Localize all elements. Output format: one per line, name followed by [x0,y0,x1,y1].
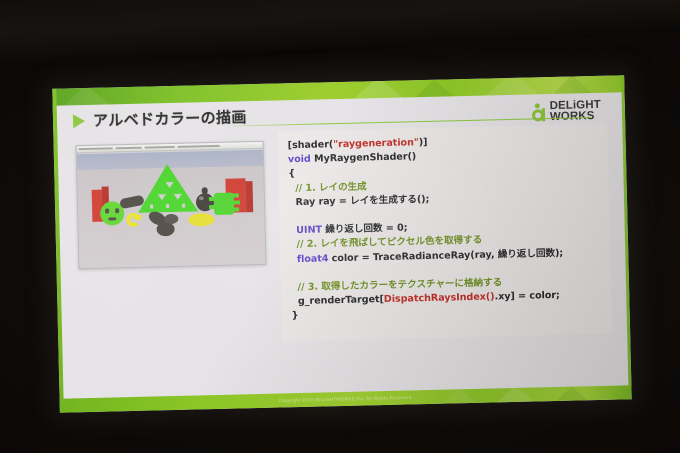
green-spike [232,207,239,211]
sphere-mouth [108,217,116,220]
sphere-eye [105,208,109,213]
code-block: [shader("raygeneration")]void MyRaygenSh… [277,124,612,342]
sphere-stem [202,187,208,194]
header-triangle-icon [62,84,110,105]
tetra-hole [158,194,166,200]
tetra-hole [174,194,182,200]
code-token: .xy] = color; [494,290,560,303]
header-triangle-icon [482,75,543,98]
code-token: // 1. レイの生成 [289,181,367,194]
code-token: )] [419,137,428,148]
code-token: [shader( [288,139,334,151]
preview-scene-objects [77,150,266,268]
code-lines: [shader("raygeneration")]void MyRaygenSh… [288,132,602,324]
code-token: // 2. レイを飛ばしてピクセル色を取得する [290,235,482,251]
code-token: MyRaygenShader() [311,151,417,164]
sphere-eye [115,208,119,213]
titlebar-text-blur [145,146,175,149]
slide-canvas: DELiGHT WORKS アルベドカラーの描画 [52,75,631,412]
yellow-blob [188,213,214,227]
dark-blob [156,222,174,236]
titlebar-text-blur [178,145,220,148]
slide-title-row: アルベドカラーの描画 [73,106,247,131]
code-token: float4 [290,253,328,265]
code-token: DispatchRaysIndex() [384,292,495,306]
green-spike [232,200,240,204]
green-triangle-icon [73,114,85,128]
dark-blob [164,214,178,224]
red-box-right-side [245,181,253,212]
code-token: UINT [290,225,323,237]
tetra-hole [150,204,153,208]
yellow-wedge [134,215,141,220]
delightworks-logo: DELiGHT WORKS [532,100,602,124]
titlebar-text-blur [116,147,142,150]
copyright-text: Copyright 2019 DELIGHTWORKS Inc. All Rig… [278,395,412,403]
code-token: g_renderTarget[ [291,294,384,307]
code-token: { [288,168,295,179]
projected-slide: DELiGHT WORKS アルベドカラーの描画 [52,75,631,412]
green-spike [209,205,215,209]
raytracing-render-preview [76,141,267,269]
green-spike [232,193,239,197]
code-token: Ray ray = レイを生成する(); [289,194,430,208]
tetra-hole [166,204,169,208]
logo-wordmark: DELiGHT WORKS [550,100,602,123]
tetra-hole [182,204,185,208]
code-token: void [288,154,311,166]
page-title: アルベドカラーの描画 [93,106,247,131]
header-triangle-icon [552,75,592,95]
tetra-hole [165,182,173,188]
code-token: 繰り返し回数 = 0; [322,223,408,236]
green-spike [209,197,215,201]
code-token: } [292,310,299,321]
code-token: "raygeneration" [333,137,419,150]
titlebar-text-blur [79,147,113,150]
header-triangle-icon [412,79,456,100]
